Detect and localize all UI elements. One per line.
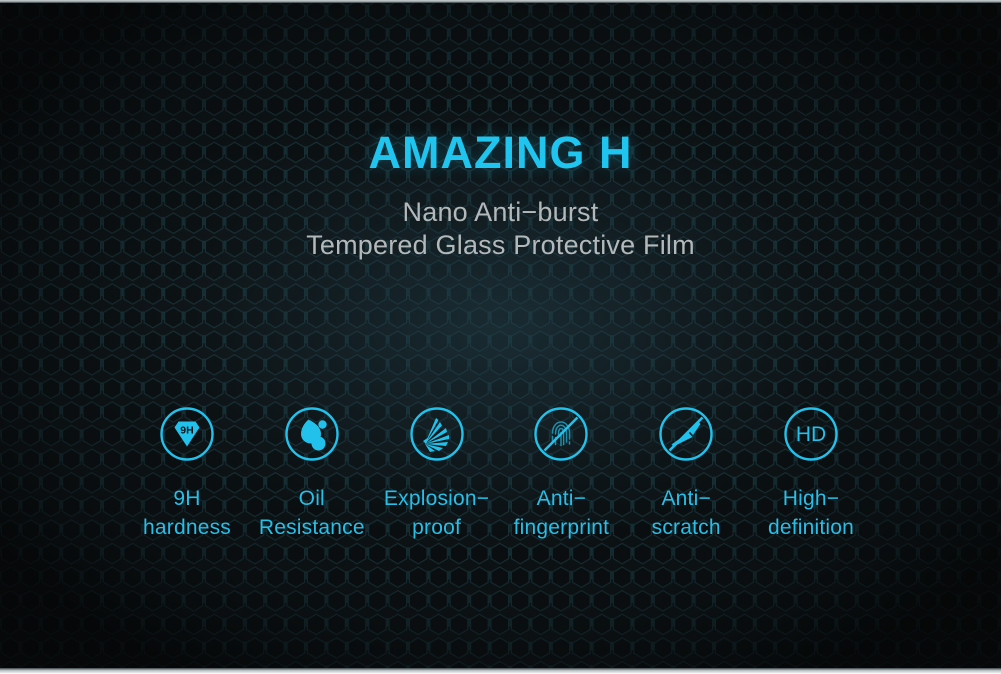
feature-item-oil-resistance: Oil Resistance xyxy=(250,406,374,542)
oil-droplet-icon xyxy=(284,406,340,462)
feature-label: High− definition xyxy=(749,484,873,542)
feature-label: Anti− scratch xyxy=(624,484,748,542)
feature-list: 9H 9H hardness Oil Resistance xyxy=(125,406,873,542)
bottom-edge-highlight xyxy=(0,668,1001,674)
no-scratch-blade-icon xyxy=(658,406,714,462)
hd-circle-icon: HD xyxy=(783,406,839,462)
feature-label: Anti− fingerprint xyxy=(499,484,623,542)
headings-block: AMAZING H Nano Anti−burst Tempered Glass… xyxy=(0,126,1001,262)
product-banner: AMAZING H Nano Anti−burst Tempered Glass… xyxy=(0,0,1001,674)
feature-item-anti-scratch: Anti− scratch xyxy=(624,406,748,542)
feature-label: Oil Resistance xyxy=(250,484,374,542)
feature-label: 9H hardness xyxy=(125,484,249,542)
no-fingerprint-icon xyxy=(533,406,589,462)
page-subtitle: Nano Anti−burst Tempered Glass Protectiv… xyxy=(0,196,1001,262)
subtitle-line-1: Nano Anti−burst xyxy=(0,196,1001,229)
subtitle-line-2: Tempered Glass Protective Film xyxy=(0,229,1001,262)
svg-text:HD: HD xyxy=(796,423,826,446)
feature-label: Explosion− proof xyxy=(375,484,499,542)
feature-item-9h-hardness: 9H 9H hardness xyxy=(125,406,249,542)
9h-diamond-icon: 9H xyxy=(159,406,215,462)
page-title: AMAZING H xyxy=(0,126,1001,180)
feature-item-high-definition: HD High− definition xyxy=(749,406,873,542)
honeycomb-background xyxy=(0,0,1001,674)
shattered-glass-icon xyxy=(409,406,465,462)
feature-item-explosion-proof: Explosion− proof xyxy=(375,406,499,542)
top-edge-highlight xyxy=(0,0,1001,3)
feature-item-anti-fingerprint: Anti− fingerprint xyxy=(499,406,623,542)
svg-text:9H: 9H xyxy=(180,424,193,436)
